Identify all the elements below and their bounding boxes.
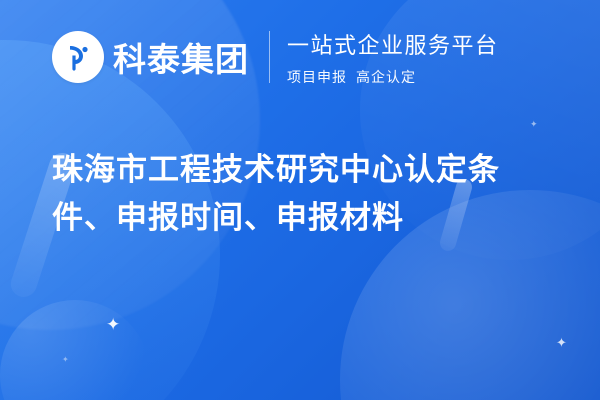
banner-title: 珠海市工程技术研究中心认定条 件、申报时间、申报材料 — [52, 146, 552, 242]
header-divider — [269, 31, 270, 83]
brand-name: 科泰集团 — [113, 33, 249, 81]
brand-logo: 科泰集团 — [52, 31, 249, 83]
slogan-sub-item-2: 高企认定 — [356, 69, 416, 85]
slogan-main: 一站式企业服务平台 — [287, 28, 499, 60]
banner-image: ✦ ✦ ✦ ✦ 科泰集团 一站式企业服务平台 项目申报高企认定 珠海市工程技术研… — [0, 0, 600, 400]
slogan-sub: 项目申报高企认定 — [287, 67, 499, 87]
title-line-1: 珠海市工程技术研究中心认定条 — [52, 146, 552, 194]
ketai-logo-icon — [52, 31, 104, 83]
banner-header: 科泰集团 一站式企业服务平台 项目申报高企认定 — [0, 22, 600, 92]
slogan-sub-item-1: 项目申报 — [287, 69, 347, 85]
slogan-block: 一站式企业服务平台 项目申报高企认定 — [287, 28, 499, 87]
title-line-2: 件、申报时间、申报材料 — [52, 194, 552, 242]
